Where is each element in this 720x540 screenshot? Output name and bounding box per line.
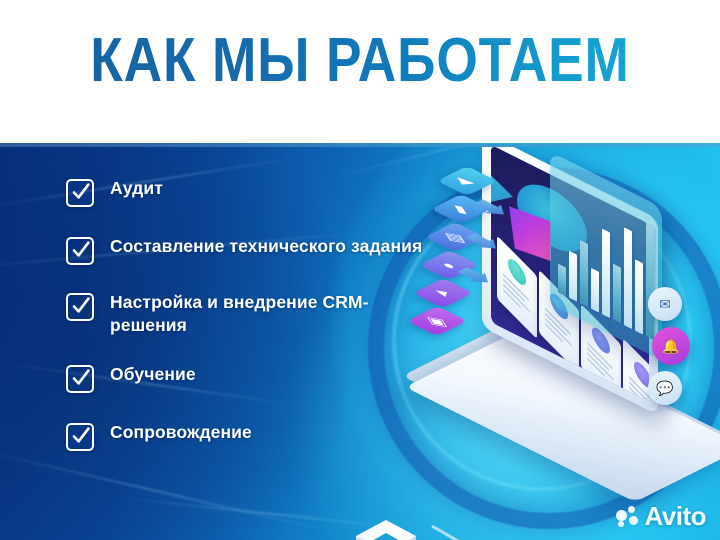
mail-icon: ✉ xyxy=(648,287,682,321)
bell-icon: 🔔 xyxy=(652,327,690,365)
list-item-label: Настройка и внедрение CRM-решения xyxy=(110,291,436,337)
funnel-icon: ▼ xyxy=(413,278,473,308)
avito-brand-label: Avito xyxy=(644,501,706,532)
list-item[interactable]: Составление технического задания xyxy=(66,235,436,265)
floating-icon-stack: ▶ ▮ ▤ ● ▼ ▣ xyxy=(430,172,506,342)
list-item[interactable]: Настройка и внедрение CRM-решения xyxy=(66,291,436,337)
list-item[interactable]: Обучение xyxy=(66,363,436,393)
crm-3d-text xyxy=(340,502,600,540)
avito-dots-logo-icon xyxy=(616,506,638,528)
avatar xyxy=(508,254,526,291)
header-band: КАК МЫ РАБОТАЕМ xyxy=(0,0,720,147)
steps-checklist: Аудит Составление технического задания Н… xyxy=(66,177,436,465)
checkbox-checked-icon xyxy=(66,237,94,265)
avito-watermark: Avito xyxy=(616,501,706,532)
list-item[interactable]: Аудит xyxy=(66,177,436,207)
list-item-label: Составление технического задания xyxy=(110,235,422,258)
checkbox-checked-icon xyxy=(66,293,94,321)
main-panel: Аудит Составление технического задания Н… xyxy=(0,147,720,540)
checkbox-checked-icon xyxy=(66,365,94,393)
checkbox-checked-icon xyxy=(66,423,94,451)
isometric-crm-illustration: ▶ ▮ ▤ ● ▼ ▣ ✉ 🔔 💬 xyxy=(400,147,720,540)
checkbox-checked-icon xyxy=(66,179,94,207)
promo-banner: КАК МЫ РАБОТАЕМ Аудит xyxy=(0,0,720,540)
list-item-label: Обучение xyxy=(110,363,196,386)
page-title: КАК МЫ РАБОТАЕМ xyxy=(50,28,669,94)
list-item-label: Аудит xyxy=(110,177,163,200)
list-item-label: Сопровождение xyxy=(110,421,252,444)
list-item[interactable]: Сопровождение xyxy=(66,421,436,451)
chat-icon: 💬 xyxy=(648,371,682,405)
cart-icon: ▣ xyxy=(407,306,467,336)
bar-chart-icon: ▮ xyxy=(431,194,491,224)
